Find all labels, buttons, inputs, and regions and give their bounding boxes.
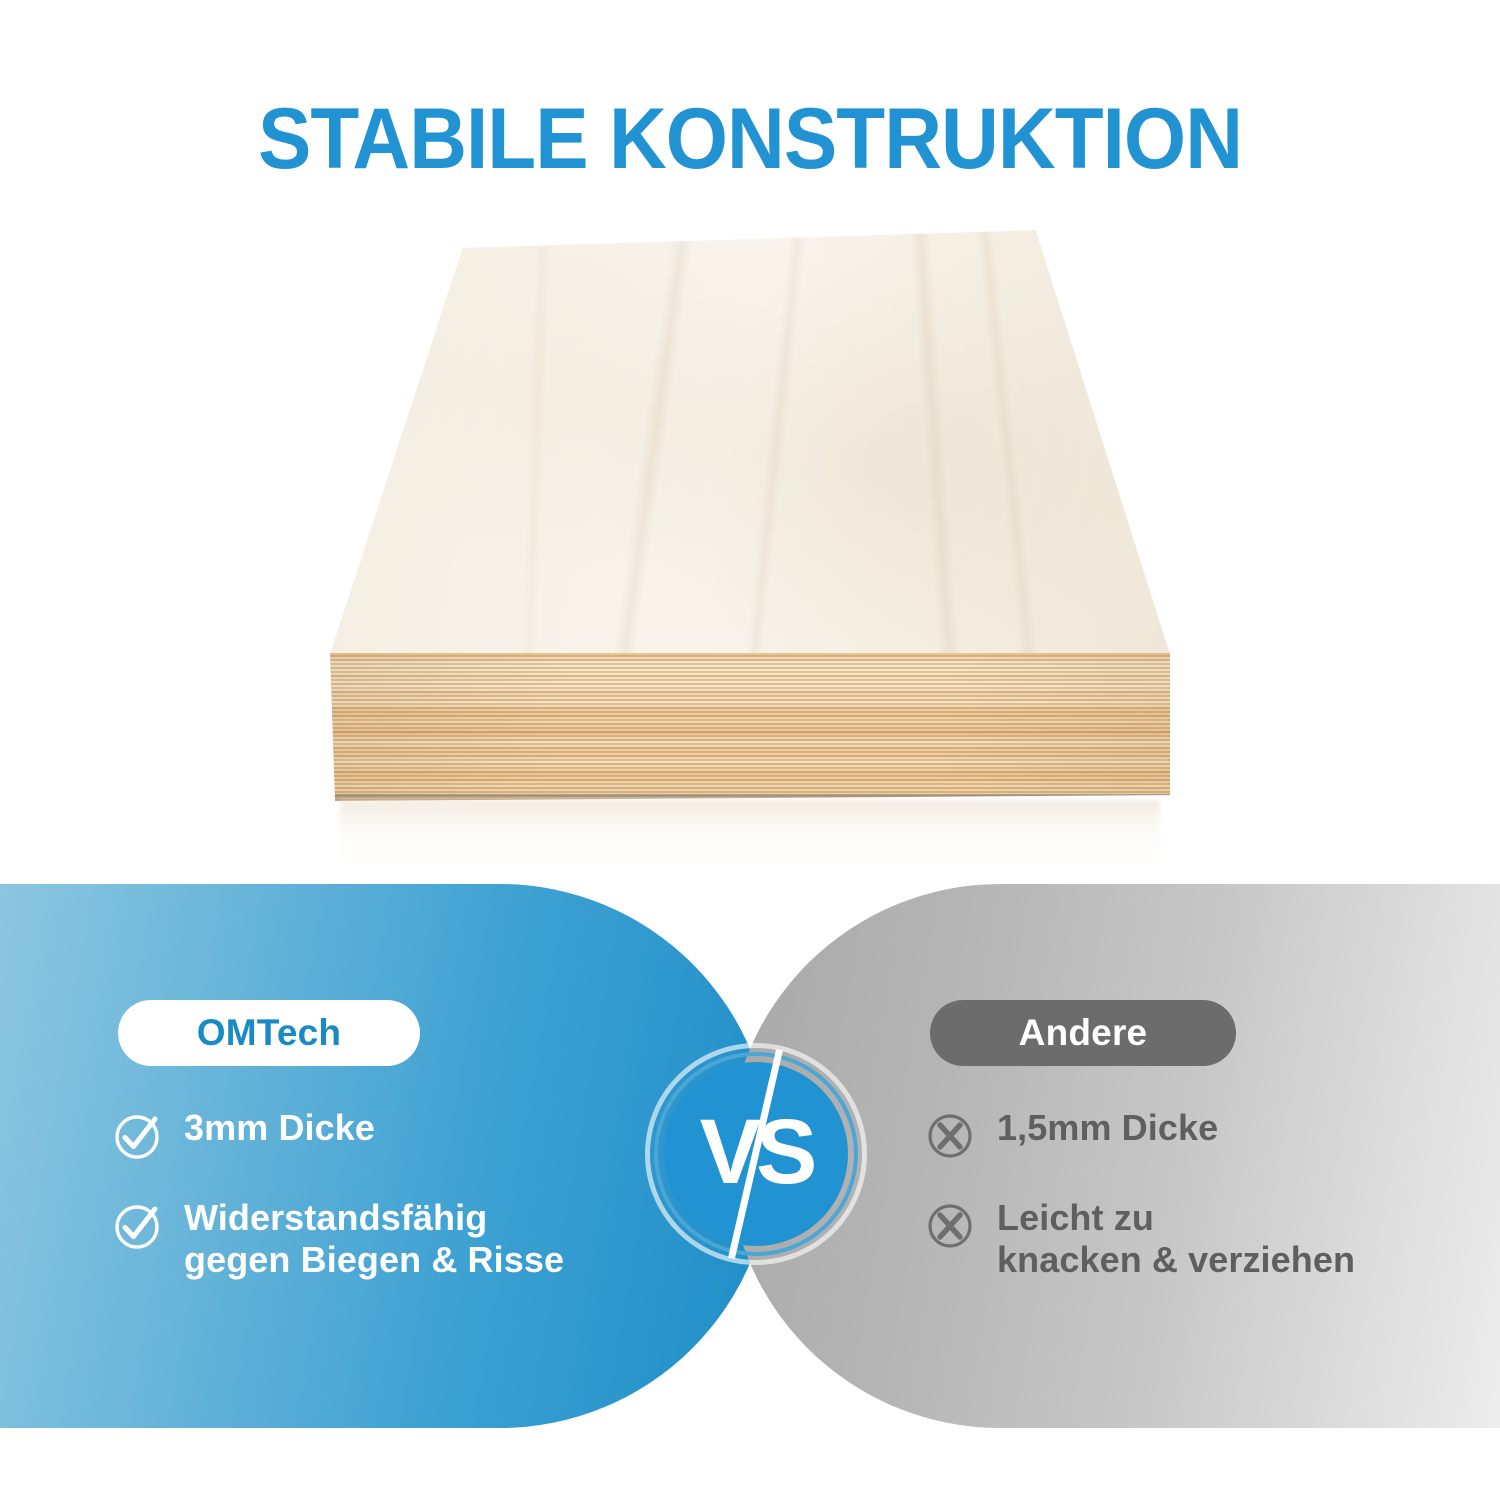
feature-label: 1,5mm Dicke	[997, 1107, 1218, 1149]
feature-row-andere-1: 1,5mm Dicke	[925, 1107, 1218, 1161]
feature-label: 3mm Dicke	[184, 1107, 375, 1149]
feature-label: Leicht zu knacken & verziehen	[997, 1197, 1355, 1282]
feature-label: Widerstandsfähig gegen Biegen & Risse	[184, 1197, 564, 1282]
board-reflection	[340, 800, 1160, 870]
check-circle-icon	[112, 1111, 162, 1161]
page-title: STABILE KONSTRUKTION	[53, 96, 1448, 182]
feature-row-omtech-2: Widerstandsfähig gegen Biegen & Risse	[112, 1197, 564, 1282]
x-circle-icon	[925, 1111, 975, 1161]
x-circle-icon	[925, 1201, 975, 1251]
board-layered-edge	[330, 653, 1170, 801]
brand-pill-andere: Andere	[930, 1000, 1236, 1066]
feature-row-andere-2: Leicht zu knacken & verziehen	[925, 1197, 1355, 1282]
check-circle-icon	[112, 1201, 162, 1251]
feature-row-omtech-1: 3mm Dicke	[112, 1107, 375, 1161]
board-edge-shading	[330, 653, 1170, 801]
product-image	[330, 225, 1170, 865]
versus-badge: VS	[645, 1043, 867, 1265]
board-top-face	[330, 225, 1170, 657]
brand-pill-omtech: OMTech	[118, 1000, 420, 1066]
